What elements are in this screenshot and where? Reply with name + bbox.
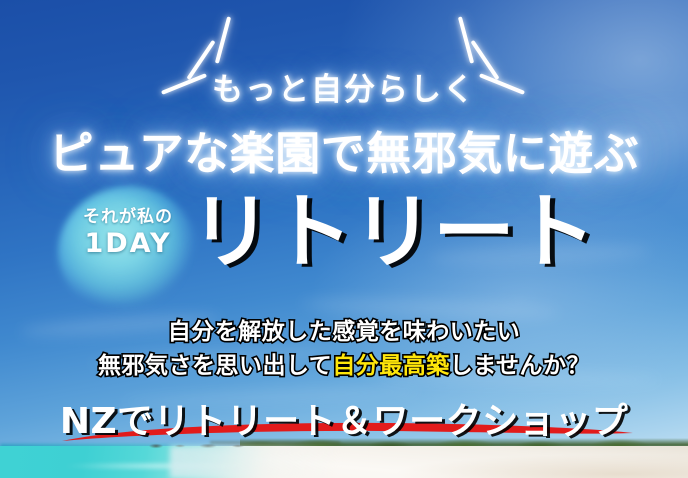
badge-small-label: それが私の bbox=[62, 208, 194, 227]
subcopy-highlight: 自分最高築 bbox=[332, 353, 450, 379]
subcopy-line2-before: 無邪気さを思い出して bbox=[98, 353, 332, 379]
subcopy-line-1: 自分を解放した感覚を味わいたい bbox=[0, 312, 688, 346]
wet-sand-edge bbox=[170, 446, 380, 478]
subcopy-line-2: 無邪気さを思い出して自分最高築しませんか？ bbox=[0, 346, 688, 380]
badge-big-label: 1DAY bbox=[62, 227, 194, 261]
subcopy-line2-after: しませんか？ bbox=[450, 353, 590, 379]
one-day-badge: それが私の 1DAY bbox=[62, 208, 194, 260]
headline-text: ピュアな楽園で無邪気に遊ぶ bbox=[0, 117, 688, 182]
retreat-poster: もっと自分らしく ピュアな楽園で無邪気に遊ぶ それが私の 1DAY リトリート … bbox=[0, 0, 688, 478]
retreat-title: リトリート bbox=[190, 192, 595, 274]
kicker-text: もっと自分らしく bbox=[0, 64, 688, 109]
footer-headline: NZでリトリート＆ワークショップ bbox=[0, 392, 688, 444]
